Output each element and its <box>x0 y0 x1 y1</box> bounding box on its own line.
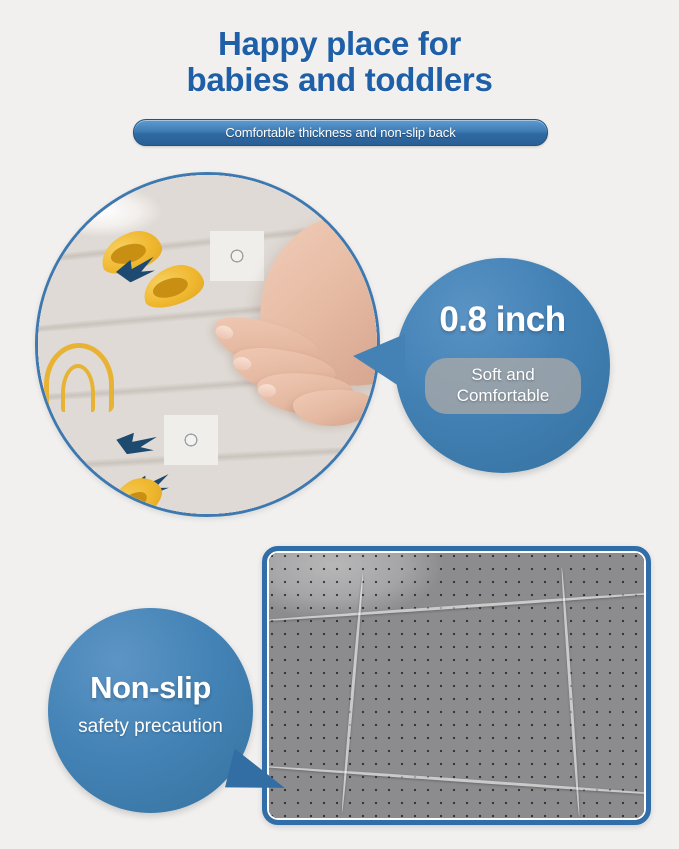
fingernail <box>257 383 276 397</box>
callout-non-slip-headline: Non-slip <box>48 670 253 706</box>
callout-thickness-headline: 0.8 inch <box>395 300 610 340</box>
mattress-photo-circle <box>35 172 380 517</box>
infographic-page: Happy place for babies and toddlers Comf… <box>0 0 679 849</box>
callout-tail <box>353 334 405 390</box>
page-title: Happy place for babies and toddlers <box>0 26 679 98</box>
hand-finger <box>292 389 373 428</box>
hand-pressing-mattress <box>190 204 380 484</box>
callout-thickness-badge-line-1: Soft and <box>425 364 581 385</box>
non-slip-photo-frame <box>262 546 651 825</box>
subtitle-banner: Comfortable thickness and non-slip back <box>133 119 548 146</box>
callout-thickness-badge-line-2: Comfortable <box>425 385 581 406</box>
callout-non-slip-subtext: safety precaution <box>48 716 253 738</box>
callout-thickness-badge: Soft and Comfortable <box>425 358 581 414</box>
non-slip-photo-inner <box>267 551 646 820</box>
red-flower-motif <box>164 415 218 465</box>
subtitle-banner-label: Comfortable thickness and non-slip back <box>225 125 455 140</box>
page-title-line-2: babies and toddlers <box>0 62 679 98</box>
fingernail <box>232 356 252 372</box>
fingernail <box>214 324 235 341</box>
callout-non-slip: Non-slip safety precaution <box>48 608 253 813</box>
page-title-line-1: Happy place for <box>218 25 461 62</box>
callout-thickness: 0.8 inch Soft and Comfortable <box>395 258 610 473</box>
